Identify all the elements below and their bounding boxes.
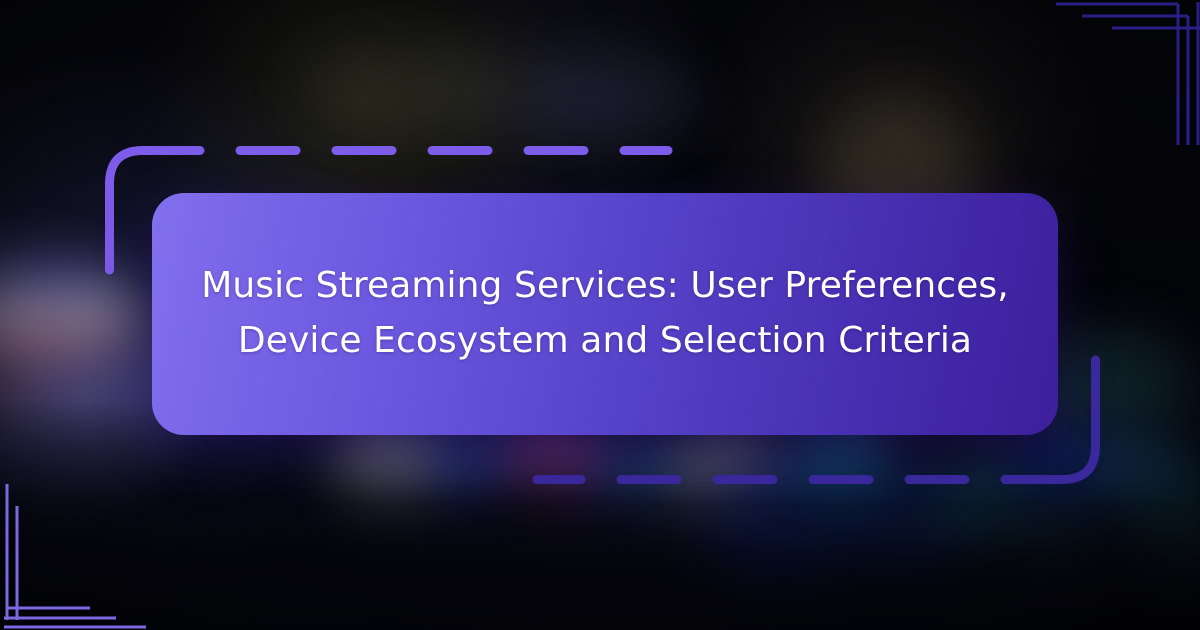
title-card: Music Streaming Services: User Preferenc… xyxy=(152,193,1058,435)
circuit-lines-bottom-left xyxy=(0,480,160,630)
social-card-canvas: Music Streaming Services: User Preferenc… xyxy=(0,0,1200,630)
page-title: Music Streaming Services: User Preferenc… xyxy=(198,259,1012,368)
circuit-lines-top-right xyxy=(1030,0,1200,145)
